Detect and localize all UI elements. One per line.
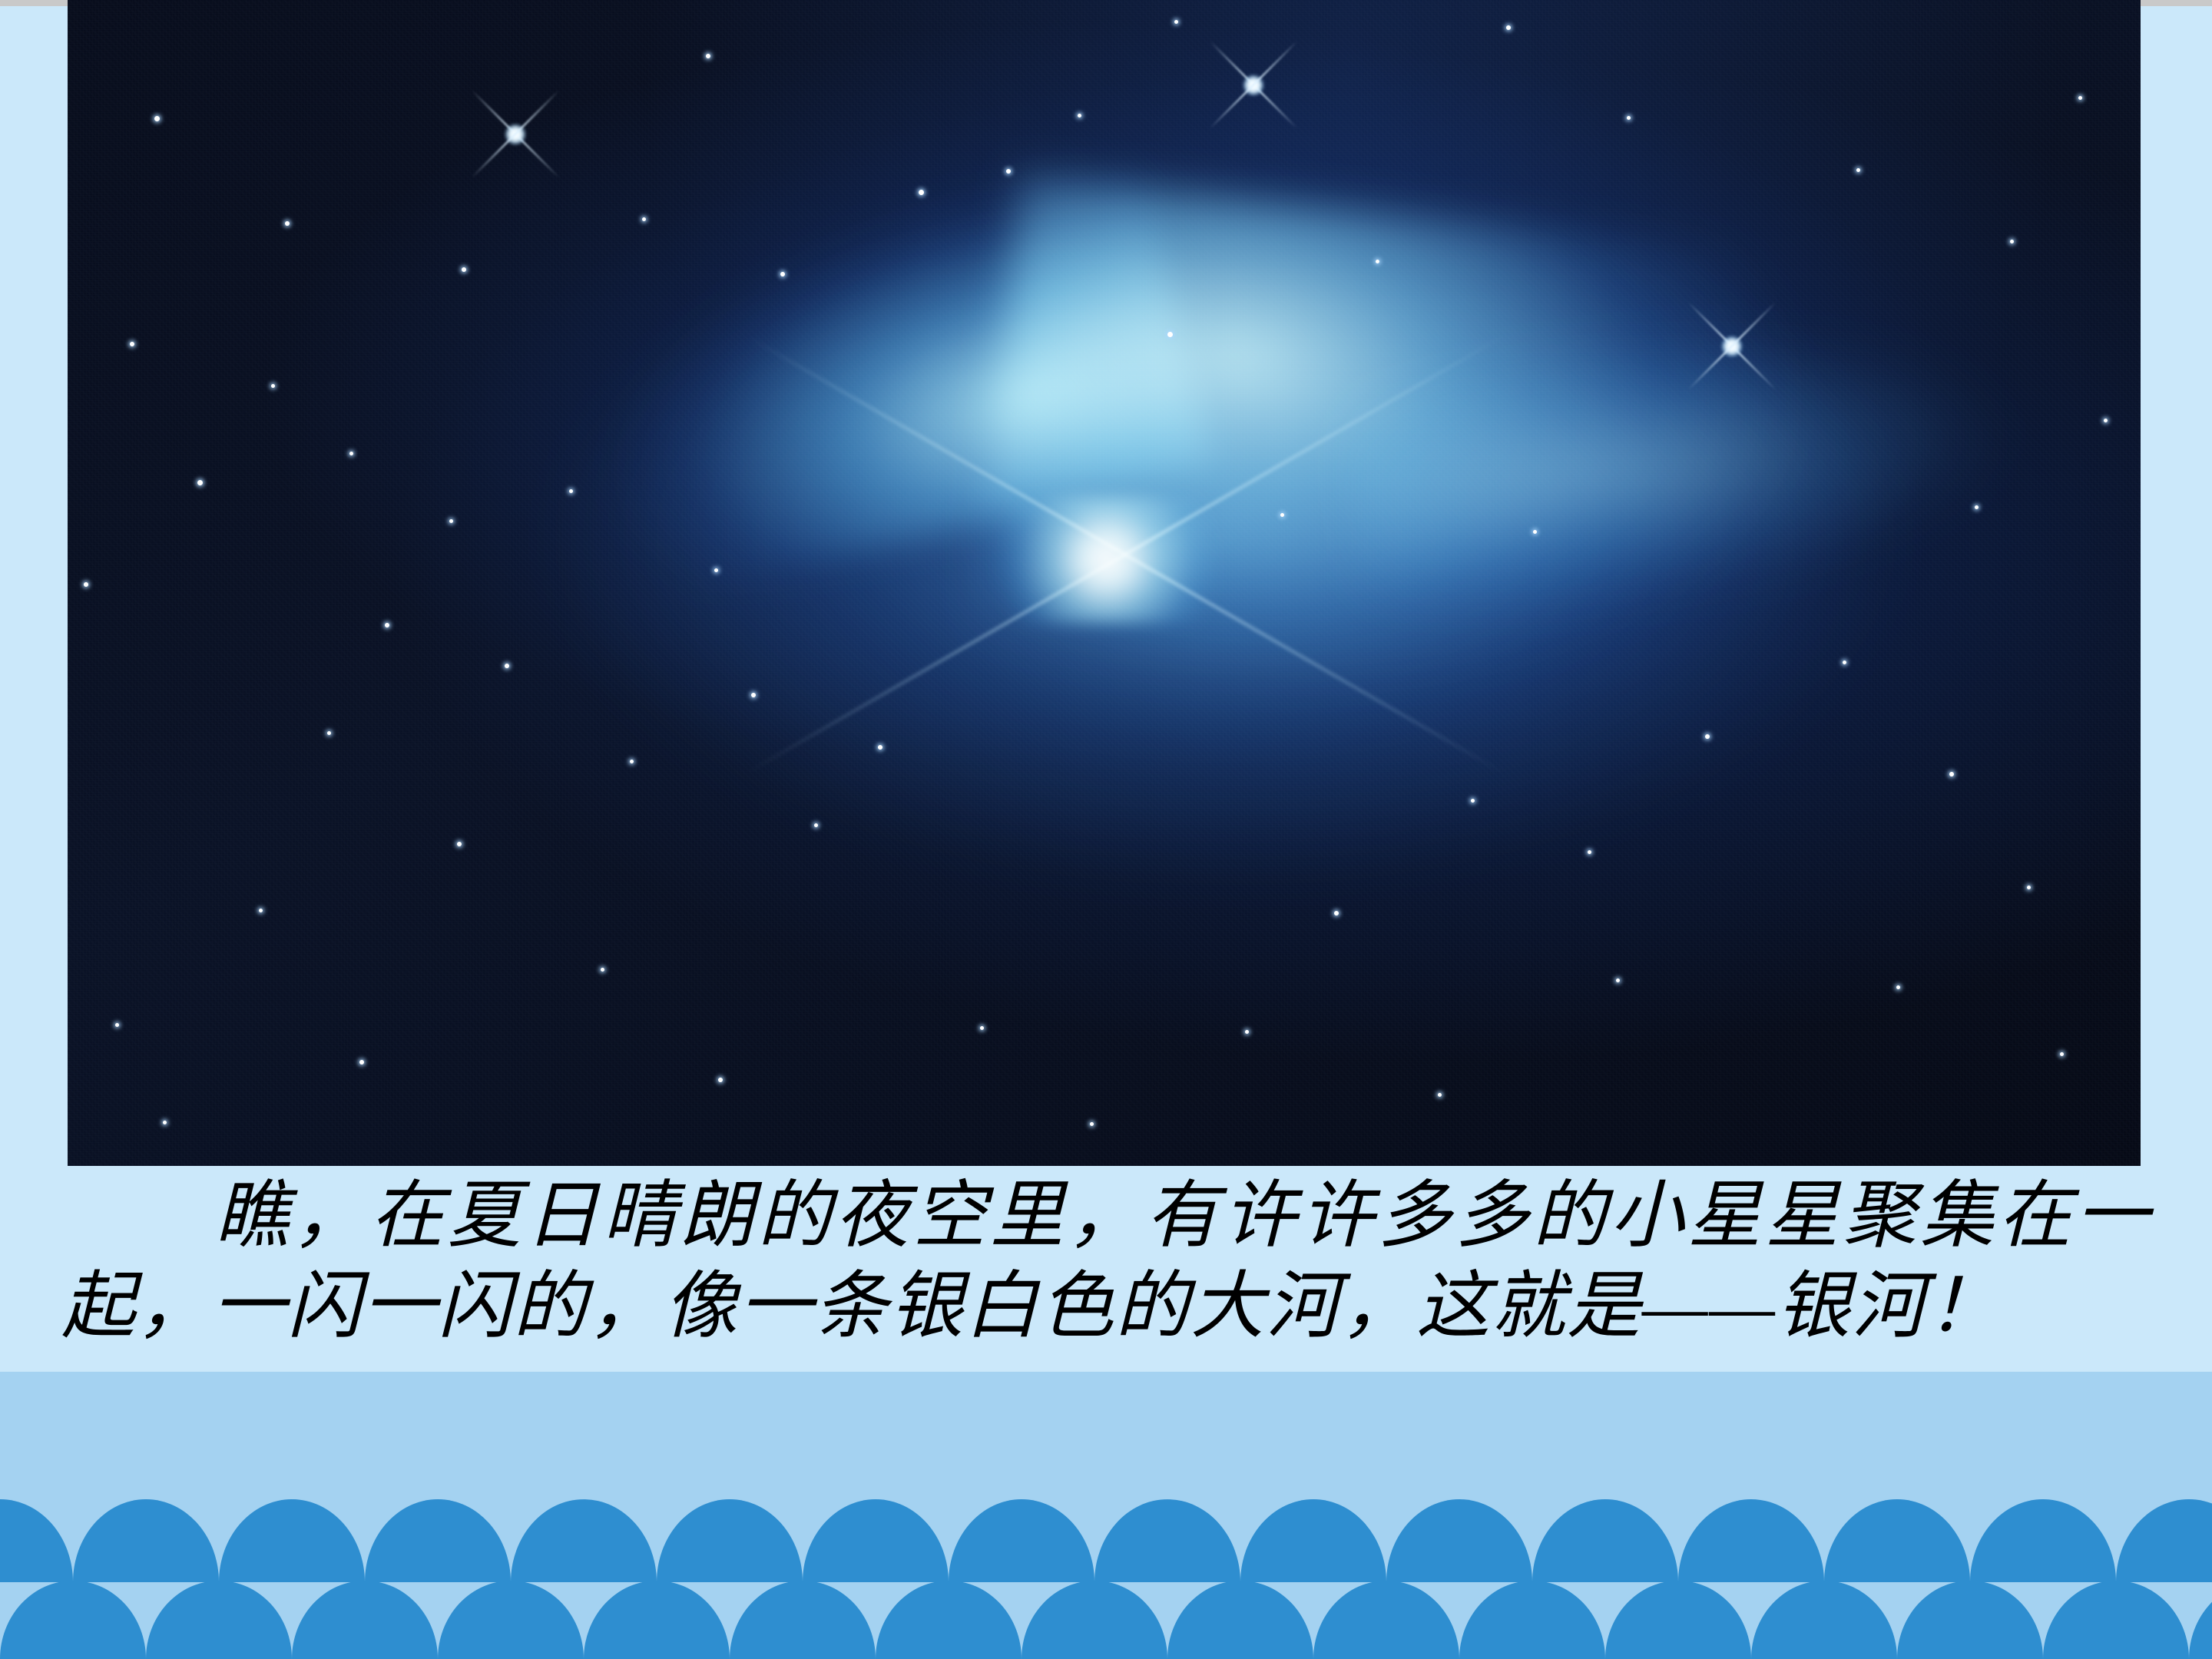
scallop-arc bbox=[511, 1499, 657, 1582]
star-dot bbox=[1090, 1122, 1094, 1126]
star-dot bbox=[1588, 850, 1591, 854]
star-dot bbox=[1896, 985, 1900, 989]
scallop-arc bbox=[2189, 1581, 2212, 1659]
scallop-arc bbox=[146, 1581, 292, 1659]
scallop-arc bbox=[73, 1499, 219, 1582]
scallop-row-bottom bbox=[0, 1581, 2212, 1659]
scallop-arc bbox=[1094, 1499, 1240, 1582]
scallop-arc bbox=[730, 1581, 876, 1659]
star-dot bbox=[130, 342, 134, 346]
star-dot bbox=[780, 272, 785, 276]
scallop-arc bbox=[1313, 1581, 1459, 1659]
scallop-arc bbox=[2116, 1499, 2212, 1582]
scallop-arc bbox=[1240, 1499, 1386, 1582]
scallop-arc bbox=[1532, 1499, 1678, 1582]
scallop-arc bbox=[292, 1581, 438, 1659]
scallop-arc bbox=[438, 1581, 584, 1659]
star-dot bbox=[642, 217, 646, 221]
star-dot bbox=[1334, 911, 1339, 916]
scallop-arc-group bbox=[0, 1581, 2212, 1659]
scallop-arc bbox=[1678, 1499, 1824, 1582]
star-dot bbox=[2010, 240, 2014, 243]
scallop-arc bbox=[1459, 1581, 1605, 1659]
star-dot bbox=[385, 623, 389, 628]
scallop-arc bbox=[876, 1581, 1022, 1659]
star-dot bbox=[1078, 114, 1081, 118]
scallop-arc bbox=[2043, 1581, 2189, 1659]
scallop-arc bbox=[0, 1581, 146, 1659]
scallop-arc bbox=[1605, 1581, 1751, 1659]
star-dot bbox=[706, 54, 710, 58]
scallop-arc bbox=[1751, 1581, 1897, 1659]
slide-canvas: 瞧，在夏日晴朗的夜空里，有许许多多的小星星聚集在一起，一闪一闪的，像一条银白色的… bbox=[0, 0, 2212, 1659]
scallop-arc bbox=[949, 1499, 1094, 1582]
star-dot bbox=[878, 745, 882, 750]
star-dot bbox=[462, 267, 466, 272]
scallop-arc-group bbox=[0, 1499, 2212, 1582]
star-dot bbox=[84, 582, 88, 587]
star-dot bbox=[2060, 1052, 2064, 1056]
star-dot bbox=[505, 664, 509, 668]
star-dot bbox=[1376, 260, 1379, 263]
scallop-arc bbox=[803, 1499, 949, 1582]
scallop-arc bbox=[1970, 1499, 2116, 1582]
caption-paragraph: 瞧，在夏日晴朗的夜空里，有许许多多的小星星聚集在一起，一闪一闪的，像一条银白色的… bbox=[0, 1171, 2212, 1352]
star-dot bbox=[271, 384, 275, 388]
star-dot bbox=[327, 731, 331, 735]
scallop-arc bbox=[1897, 1581, 2043, 1659]
scallop-arc bbox=[657, 1499, 803, 1582]
star-dot bbox=[2027, 886, 2031, 889]
scallop-arc bbox=[584, 1581, 730, 1659]
star-dot bbox=[259, 909, 263, 912]
star-dot bbox=[449, 519, 453, 523]
scallop-arc bbox=[365, 1499, 511, 1582]
star-dot bbox=[1627, 116, 1631, 120]
scallop-arc bbox=[219, 1499, 365, 1582]
scallop-arc bbox=[1824, 1499, 1970, 1582]
star-dot bbox=[630, 760, 634, 763]
scallop-arc bbox=[0, 1499, 73, 1582]
nebula-bright-core bbox=[992, 495, 1220, 624]
scallop-row-top bbox=[0, 1499, 2212, 1582]
scallop-arc bbox=[1386, 1499, 1532, 1582]
star-dot bbox=[154, 116, 160, 121]
scallop-arc bbox=[1167, 1581, 1313, 1659]
scallop-arc bbox=[1022, 1581, 1167, 1659]
boomerang-nebula-photo bbox=[68, 0, 2141, 1166]
star-dot bbox=[1843, 661, 1846, 664]
star-dot bbox=[718, 1078, 723, 1082]
star-dot bbox=[569, 489, 573, 493]
